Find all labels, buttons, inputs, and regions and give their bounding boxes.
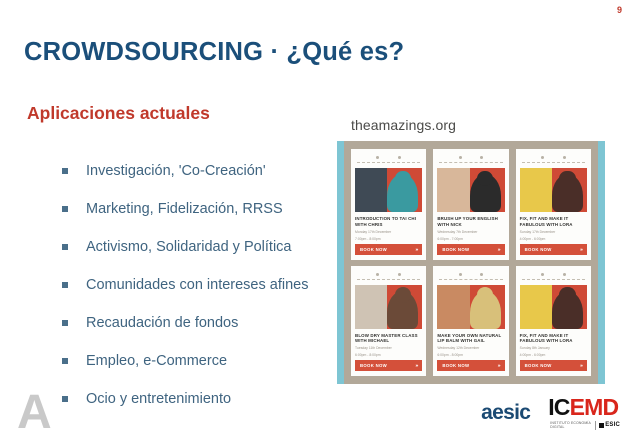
- event-photo: [355, 168, 422, 212]
- book-now-label: BOOK NOW: [360, 247, 387, 252]
- chevron-right-icon: ››››: [580, 363, 582, 368]
- ticket-hole-icon: [459, 156, 462, 159]
- list-item-label: Activismo, Solidaridad y Política: [86, 228, 292, 266]
- event-title: INTRODUCTION TO TAI CHI WITH CHRIS: [355, 216, 422, 228]
- list-item: Comunidades con intereses afines: [62, 266, 352, 304]
- bullet-square-icon: [62, 320, 68, 326]
- event-time: 7:00pm - 8:00pm: [355, 237, 422, 242]
- book-now-label: BOOK NOW: [525, 247, 552, 252]
- list-item: Ocio y entretenimiento: [62, 380, 352, 418]
- applications-bullet-list: Investigación, 'Co-Creación'Marketing, F…: [62, 152, 352, 418]
- chevron-right-icon: ››››: [415, 247, 417, 252]
- footer-logos: aesic ICEMD INSTITUTO ECONOMÍA DIGITAL E…: [481, 396, 620, 430]
- chevron-right-icon: ››››: [498, 247, 500, 252]
- event-date: Wednesday 12th December: [437, 346, 504, 351]
- bullet-square-icon: [62, 282, 68, 288]
- page-number: 9: [617, 5, 622, 15]
- ticket-hole-icon: [541, 156, 544, 159]
- list-item: Investigación, 'Co-Creación': [62, 152, 352, 190]
- ticket-hole-icon: [459, 273, 462, 276]
- ticket-hole-icon: [480, 156, 483, 159]
- event-person-head: [477, 287, 493, 303]
- ticket-hole-icon: [563, 156, 566, 159]
- book-now-label: BOOK NOW: [442, 247, 469, 252]
- ticket-hole-icon: [480, 273, 483, 276]
- book-now-label: BOOK NOW: [442, 363, 469, 368]
- page-title: CROWDSOURCING · ¿Qué es?: [24, 38, 404, 67]
- bullet-square-icon: [62, 396, 68, 402]
- event-person-head: [559, 171, 575, 187]
- ticket-holes: [437, 270, 504, 279]
- ticket-holes: [355, 270, 422, 279]
- event-card-grid: INTRODUCTION TO TAI CHI WITH CHRISMonday…: [351, 149, 591, 376]
- ticket-perforation: [522, 162, 585, 165]
- section-subtitle: Aplicaciones actuales: [27, 103, 210, 124]
- icemd-subtitle: INSTITUTO ECONOMÍA DIGITAL: [550, 421, 592, 430]
- event-time: 4:00pm - 6:00pm: [520, 353, 587, 358]
- icemd-logo: ICEMD INSTITUTO ECONOMÍA DIGITAL ESIC: [548, 396, 620, 430]
- esic-badge-label: ESIC: [605, 422, 620, 428]
- event-photo: [355, 285, 422, 329]
- event-time: 4:00pm - 6:00pm: [520, 237, 587, 242]
- book-now-button[interactable]: BOOK NOW››››: [437, 360, 504, 371]
- bullet-square-icon: [62, 358, 68, 364]
- ticket-perforation: [439, 279, 502, 282]
- list-item-label: Recaudación de fondos: [86, 304, 238, 342]
- event-photo-scene: [520, 168, 555, 212]
- list-item-label: Empleo, e-Commerce: [86, 342, 227, 380]
- event-time: 6:00pm - 7:00pm: [437, 237, 504, 242]
- ticket-hole-icon: [398, 273, 401, 276]
- event-date: Sunday 8th January: [520, 346, 587, 351]
- watermark-letter: A: [17, 389, 52, 437]
- media-caption: theamazings.org: [351, 117, 456, 133]
- ticket-hole-icon: [376, 273, 379, 276]
- event-date: Wednesday 7th December: [437, 230, 504, 235]
- esic-badge: ESIC: [599, 422, 620, 428]
- event-time: 6:00pm - 8:00pm: [437, 353, 504, 358]
- event-photo: [437, 285, 504, 329]
- ticket-holes: [437, 153, 504, 162]
- event-time: 6:00pm - 8:00pm: [355, 353, 422, 358]
- event-ticket-card[interactable]: INTRODUCTION TO TAI CHI WITH CHRISMonday…: [351, 149, 426, 260]
- event-photo-scene: [355, 168, 390, 212]
- list-item-label: Comunidades con intereses afines: [86, 266, 308, 304]
- logo-divider: [595, 421, 596, 430]
- book-now-button[interactable]: BOOK NOW››››: [520, 360, 587, 371]
- accent-bar-left: [337, 141, 344, 384]
- event-person-head: [395, 287, 411, 303]
- ticket-holes: [355, 153, 422, 162]
- event-title: BRUSH UP YOUR ENGLISH WITH NICK: [437, 216, 504, 228]
- event-ticket-card[interactable]: BLOW DRY MASTER CLASS WITH MICHAELTuesda…: [351, 266, 426, 377]
- list-item: Empleo, e-Commerce: [62, 342, 352, 380]
- ticket-perforation: [357, 162, 420, 165]
- ticket-hole-icon: [376, 156, 379, 159]
- event-ticket-card[interactable]: FIX, FIT AND MAKE IT FABULOUS WITH LORAS…: [516, 266, 591, 377]
- book-now-button[interactable]: BOOK NOW››››: [520, 244, 587, 255]
- ticket-hole-icon: [541, 273, 544, 276]
- ticket-hole-icon: [563, 273, 566, 276]
- event-date: Monday 17th December: [355, 230, 422, 235]
- bullet-square-icon: [62, 244, 68, 250]
- event-title: MAKE YOUR OWN NATURAL LIP BALM WITH GAIL: [437, 333, 504, 345]
- list-item: Marketing, Fidelización, RRSS: [62, 190, 352, 228]
- ticket-perforation: [357, 279, 420, 282]
- book-now-button[interactable]: BOOK NOW››››: [355, 244, 422, 255]
- book-now-label: BOOK NOW: [525, 363, 552, 368]
- esic-badge-square: [599, 423, 604, 428]
- event-ticket-card[interactable]: MAKE YOUR OWN NATURAL LIP BALM WITH GAIL…: [433, 266, 508, 377]
- ticket-holes: [520, 153, 587, 162]
- chevron-right-icon: ››››: [580, 247, 582, 252]
- theamazings-screenshot: INTRODUCTION TO TAI CHI WITH CHRISMonday…: [344, 141, 598, 384]
- list-item: Activismo, Solidaridad y Política: [62, 228, 352, 266]
- event-title: FIX, FIT AND MAKE IT FABULOUS WITH LORA: [520, 216, 587, 228]
- event-title: BLOW DRY MASTER CLASS WITH MICHAEL: [355, 333, 422, 345]
- chevron-right-icon: ››››: [498, 363, 500, 368]
- chevron-right-icon: ››››: [415, 363, 417, 368]
- ticket-holes: [520, 270, 587, 279]
- event-photo-scene: [437, 285, 472, 329]
- accent-bar-right: [598, 141, 605, 384]
- event-photo-scene: [520, 285, 555, 329]
- icemd-wordmark-emd: EMD: [570, 394, 619, 420]
- event-title: FIX, FIT AND MAKE IT FABULOUS WITH LORA: [520, 333, 587, 345]
- ticket-hole-icon: [398, 156, 401, 159]
- book-now-button[interactable]: BOOK NOW››››: [437, 244, 504, 255]
- aesic-logo: aesic: [481, 401, 530, 425]
- presentation-slide: 9 CROWDSOURCING · ¿Qué es? Aplicaciones …: [0, 0, 638, 442]
- event-person-head: [395, 171, 411, 187]
- icemd-wordmark-ic: IC: [548, 394, 569, 420]
- ticket-perforation: [439, 162, 502, 165]
- book-now-button[interactable]: BOOK NOW››››: [355, 360, 422, 371]
- event-photo: [520, 168, 587, 212]
- event-photo-scene: [437, 168, 472, 212]
- bullet-square-icon: [62, 206, 68, 212]
- event-ticket-card[interactable]: FIX, FIT AND MAKE IT FABULOUS WITH LORAS…: [516, 149, 591, 260]
- event-date: Sunday 17th December: [520, 230, 587, 235]
- icemd-subtitle-row: INSTITUTO ECONOMÍA DIGITAL ESIC: [548, 421, 620, 430]
- list-item-label: Ocio y entretenimiento: [86, 380, 231, 418]
- event-photo: [520, 285, 587, 329]
- icemd-wordmark: ICEMD: [548, 396, 618, 419]
- event-ticket-card[interactable]: BRUSH UP YOUR ENGLISH WITH NICKWednesday…: [433, 149, 508, 260]
- event-date: Tuesday 11th December: [355, 346, 422, 351]
- bullet-square-icon: [62, 168, 68, 174]
- ticket-perforation: [522, 279, 585, 282]
- book-now-label: BOOK NOW: [360, 363, 387, 368]
- event-person-head: [559, 287, 575, 303]
- list-item-label: Investigación, 'Co-Creación': [86, 152, 266, 190]
- list-item-label: Marketing, Fidelización, RRSS: [86, 190, 283, 228]
- event-photo-scene: [355, 285, 390, 329]
- list-item: Recaudación de fondos: [62, 304, 352, 342]
- event-photo: [437, 168, 504, 212]
